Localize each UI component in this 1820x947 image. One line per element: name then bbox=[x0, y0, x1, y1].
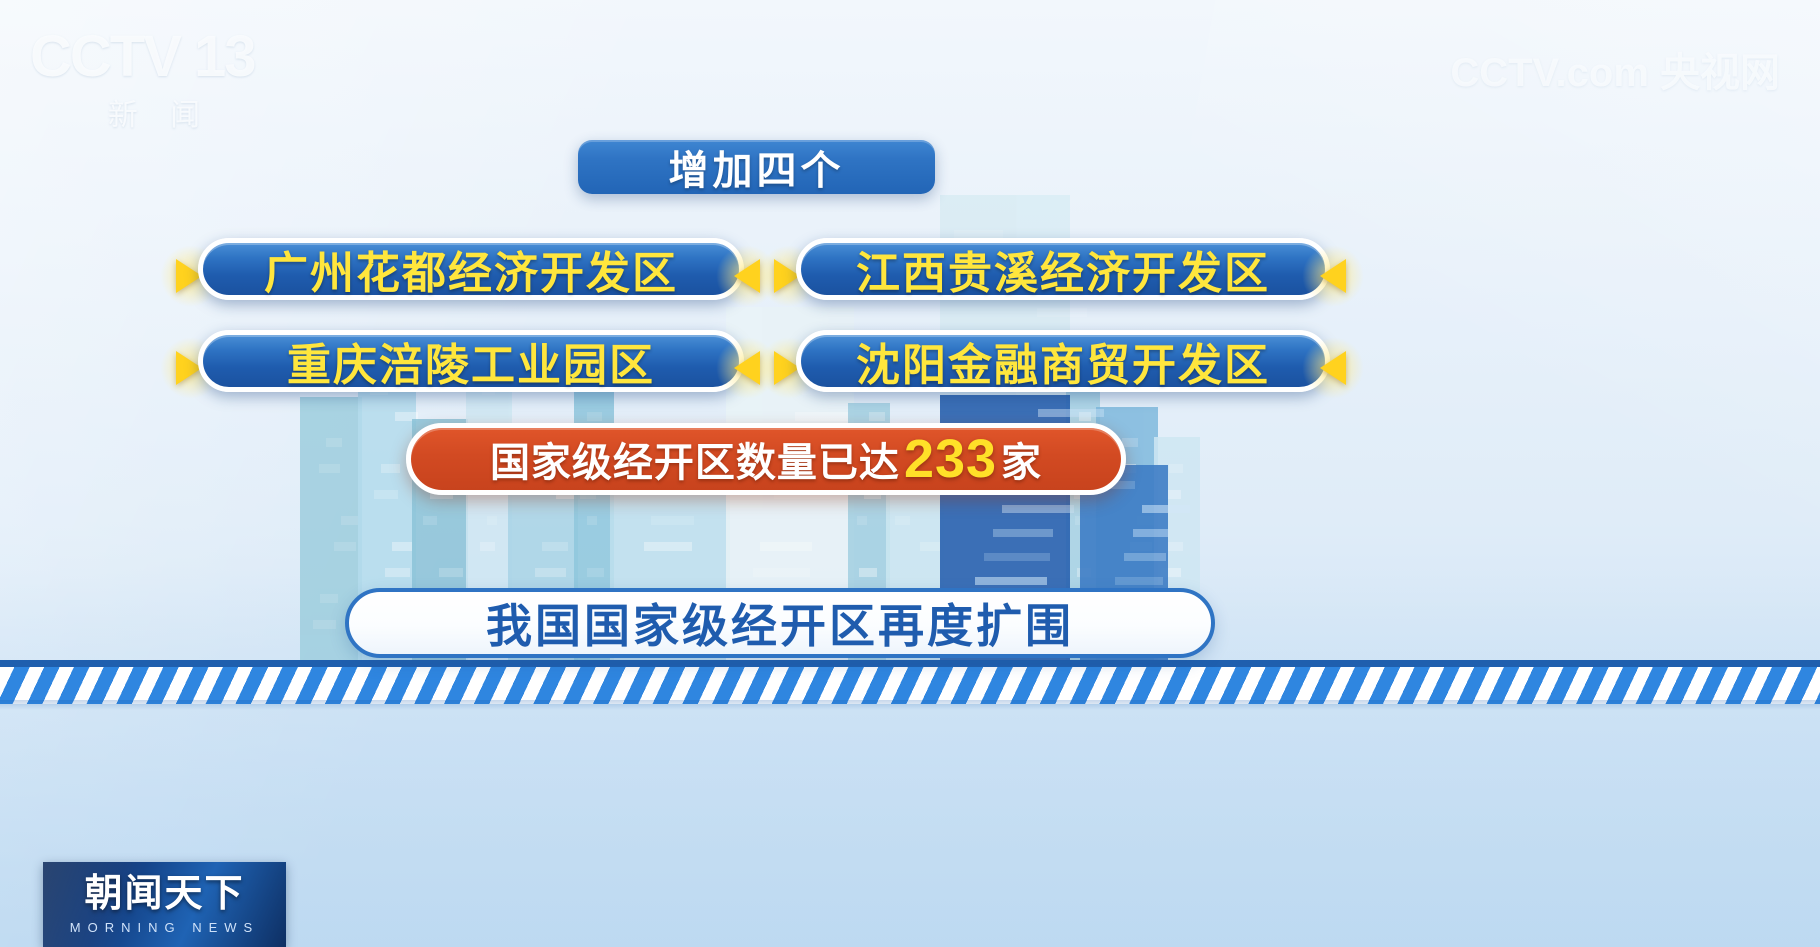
broadcast-graphic-stage: CCTV 13 新 闻 CCTV.com 央视网 增加四个 广州花都经济开发区 … bbox=[0, 0, 1820, 947]
arrow-left-icon-1 bbox=[734, 259, 760, 293]
lower-third-title: 我国国家级经开区再度扩围 bbox=[345, 588, 1215, 658]
cctv13-logo-line2: 新 闻 bbox=[30, 90, 290, 134]
band-shadow bbox=[0, 700, 1820, 710]
stat-banner-prefix: 国家级经开区数量已达 bbox=[490, 430, 900, 488]
zone-pill-2[interactable]: 江西贵溪经济开发区 bbox=[796, 238, 1330, 300]
stat-banner: 国家级经开区数量已达 233 家 bbox=[406, 423, 1126, 495]
stat-banner-suffix: 家 bbox=[1001, 430, 1042, 488]
stat-banner-number: 233 bbox=[900, 428, 1001, 490]
top-label-pill: 增加四个 bbox=[578, 140, 935, 194]
zone-pill-3[interactable]: 重庆涪陵工业园区 bbox=[198, 330, 744, 392]
cctv13-logo-line1: CCTV 13 bbox=[30, 28, 290, 86]
arrow-left-icon-4 bbox=[1320, 351, 1346, 385]
cctv13-channel-logo: CCTV 13 新 闻 bbox=[30, 28, 290, 138]
diagonal-stripe-band bbox=[0, 660, 1820, 704]
arrow-left-icon-3 bbox=[734, 351, 760, 385]
zone-pill-1[interactable]: 广州花都经济开发区 bbox=[198, 238, 744, 300]
arrow-left-icon-2 bbox=[1320, 259, 1346, 293]
program-bug-shine bbox=[43, 862, 200, 947]
program-bug: 朝闻天下 MORNING NEWS bbox=[43, 862, 286, 947]
zone-pill-4[interactable]: 沈阳金融商贸开发区 bbox=[796, 330, 1330, 392]
cctv-com-watermark: CCTV.com 央视网 bbox=[1450, 40, 1780, 98]
